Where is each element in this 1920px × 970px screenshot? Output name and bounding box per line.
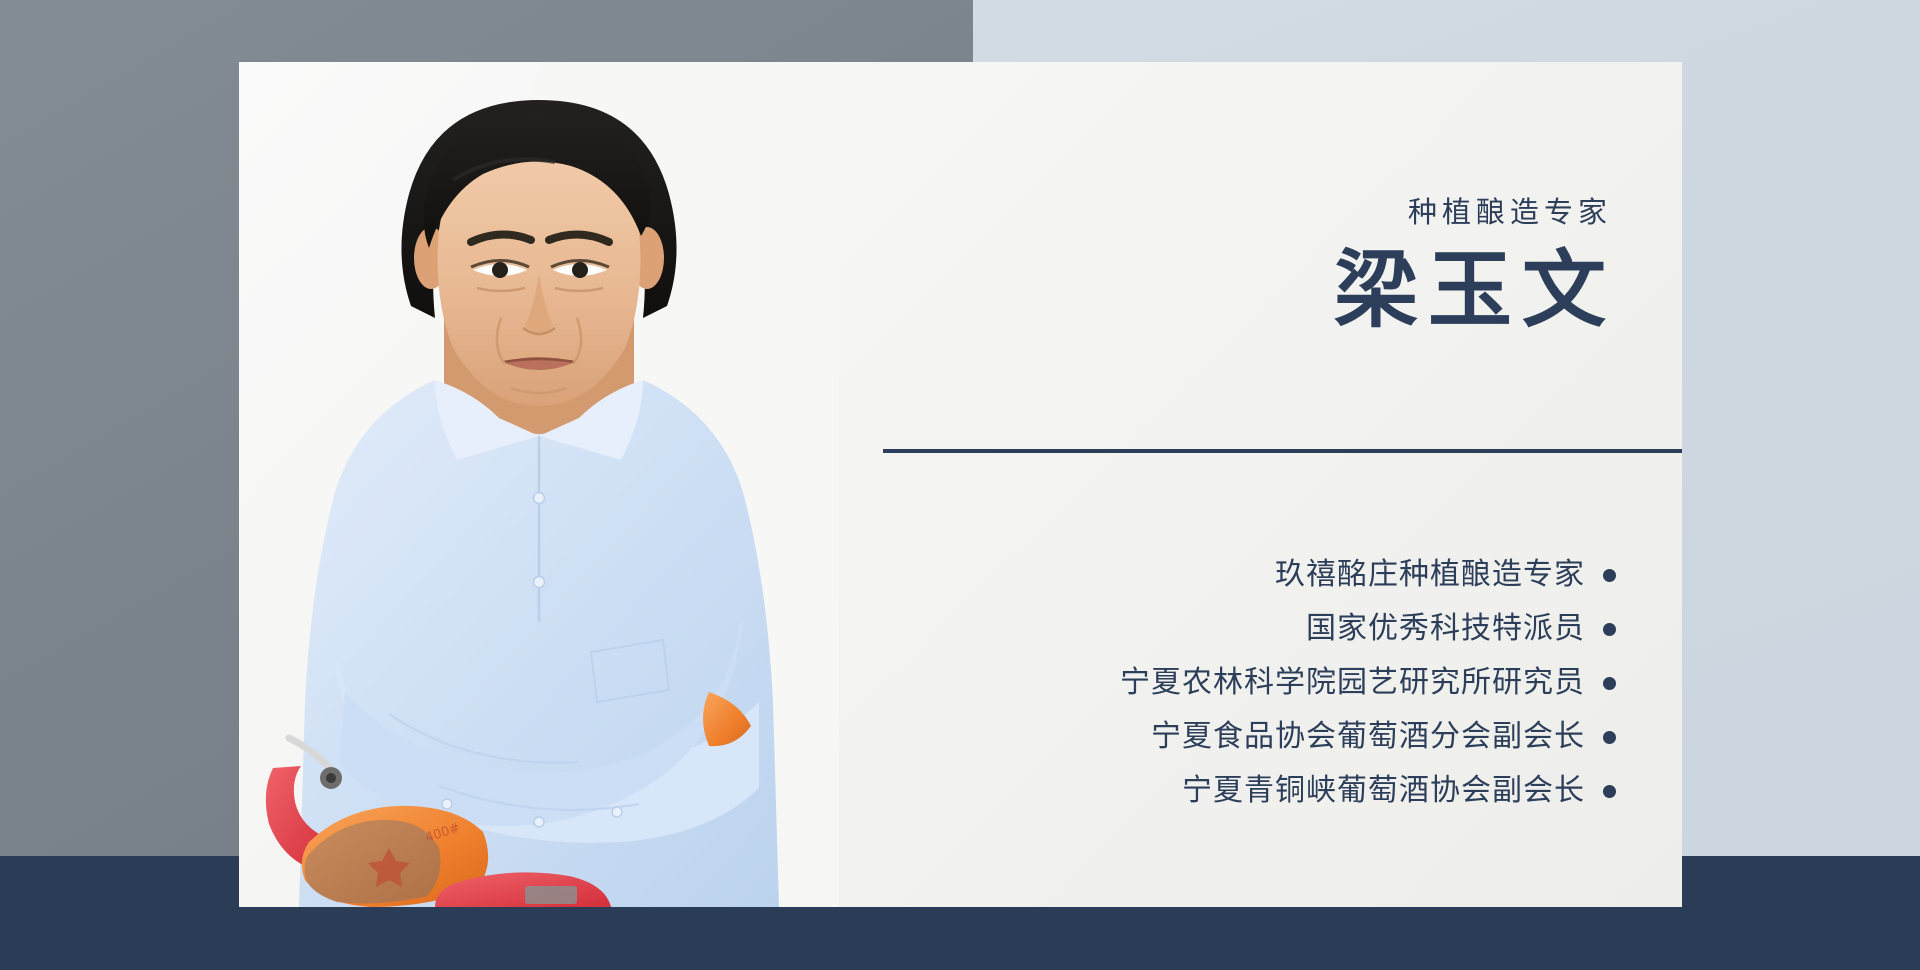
profile-content: 种植酿造专家 梁玉文 玖禧酩庄种植酿造专家 国家优秀科技特派员 宁夏农林科学院园… <box>879 62 1682 907</box>
credential-label: 宁夏青铜峡葡萄酒协会副会长 <box>1182 773 1585 809</box>
list-item: 玖禧酩庄种植酿造专家 <box>876 548 1616 602</box>
expert-name: 梁玉文 <box>1334 242 1616 342</box>
portrait-photo: 400# <box>239 62 839 907</box>
bullet-dot-icon <box>1603 677 1616 690</box>
credential-label: 国家优秀科技特派员 <box>1306 611 1585 647</box>
credential-label: 玖禧酩庄种植酿造专家 <box>1275 557 1585 593</box>
bullet-dot-icon <box>1603 623 1616 636</box>
credential-label: 宁夏农林科学院园艺研究所研究员 <box>1120 665 1585 701</box>
bullet-dot-icon <box>1603 785 1616 798</box>
list-item: 宁夏农林科学院园艺研究所研究员 <box>876 656 1616 710</box>
credential-label: 宁夏食品协会葡萄酒分会副会长 <box>1151 719 1585 755</box>
bullet-dot-icon <box>1603 731 1616 744</box>
divider-line <box>883 449 1682 453</box>
expert-subtitle: 种植酿造专家 <box>1408 196 1612 230</box>
bullet-dot-icon <box>1603 569 1616 582</box>
list-item: 宁夏食品协会葡萄酒分会副会长 <box>876 710 1616 764</box>
poster-canvas: 400# <box>0 0 1920 970</box>
divider <box>883 445 1682 457</box>
credentials-list: 玖禧酩庄种植酿造专家 国家优秀科技特派员 宁夏农林科学院园艺研究所研究员 宁夏食… <box>876 548 1616 818</box>
list-item: 国家优秀科技特派员 <box>876 602 1616 656</box>
list-item: 宁夏青铜峡葡萄酒协会副会长 <box>876 764 1616 818</box>
svg-text:400#: 400# <box>424 821 463 846</box>
profile-card: 400# <box>239 62 1682 907</box>
